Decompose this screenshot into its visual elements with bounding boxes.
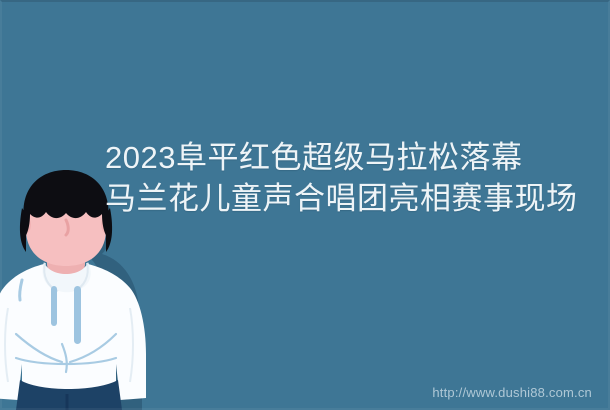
headline: 2023阜平红色超级马拉松落幕 马兰花儿童声合唱团亮相赛事现场 [105, 137, 605, 219]
watermark-url: http://www.dushi88.com.cn [432, 385, 592, 400]
headline-line-1: 2023阜平红色超级马拉松落幕 [105, 137, 605, 178]
poster-canvas: 2023阜平红色超级马拉松落幕 马兰花儿童声合唱团亮相赛事现场 http://w… [0, 0, 610, 410]
headline-line-2: 马兰花儿童声合唱团亮相赛事现场 [105, 178, 605, 219]
